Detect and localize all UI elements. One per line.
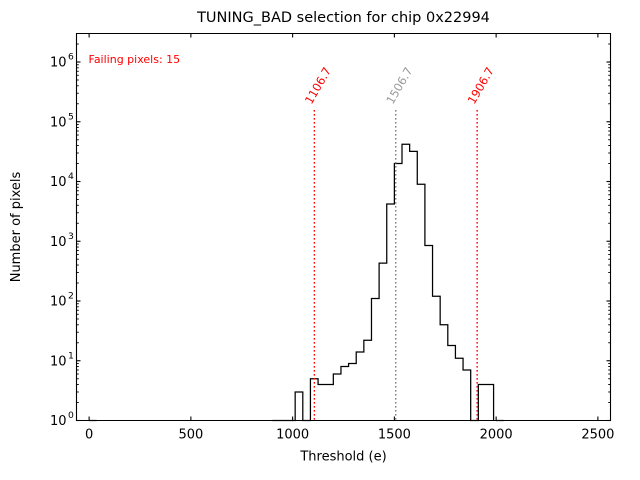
y-tick-exponent: 2 [68,291,74,302]
y-tick-exponent: 0 [68,410,74,421]
y-tick-label: 10 [50,354,67,369]
histogram-plot: TUNING_BAD selection for chip 0x22994050… [0,0,640,480]
y-tick-label: 10 [50,235,67,250]
axes-frame [77,34,611,421]
vline-label-1506.7: 1506.7 [383,65,415,107]
y-tick-exponent: 1 [68,350,74,361]
y-tick-label: 10 [50,56,67,71]
y-tick-exponent: 5 [68,111,74,122]
x-tick-label: 0 [85,428,93,443]
y-axis-label: Number of pixels [9,171,24,282]
vline-label-1906.7: 1906.7 [465,65,497,107]
y-tick-label: 10 [50,115,67,130]
y-tick-exponent: 6 [68,52,74,63]
y-tick-label: 10 [50,175,67,190]
chart-title: TUNING_BAD selection for chip 0x22994 [196,10,490,26]
x-tick-label: 500 [178,428,203,443]
y-tick-exponent: 3 [68,231,74,242]
y-tick-exponent: 4 [68,171,74,182]
x-axis-label: Threshold (e) [299,450,386,465]
x-tick-label: 2000 [480,428,513,443]
failing-pixels-annotation: Failing pixels: 15 [89,53,181,66]
x-tick-label: 2500 [581,428,614,443]
histogram-outline [89,144,504,420]
y-tick-label: 10 [50,295,67,310]
vline-label-1106.7: 1106.7 [302,65,334,107]
figure-canvas: TUNING_BAD selection for chip 0x22994050… [0,0,640,480]
x-tick-label: 1500 [378,428,411,443]
y-tick-label: 10 [50,414,67,429]
x-tick-label: 1000 [276,428,309,443]
